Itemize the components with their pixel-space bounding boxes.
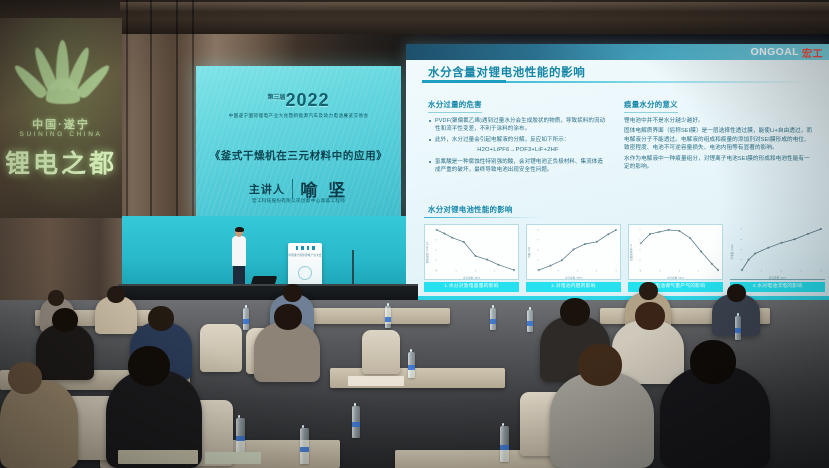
brand-name-cn: 宏工	[802, 45, 823, 60]
chart-caption: 1.水分对放电容量的影响	[424, 282, 519, 292]
chart-plot-4: 水分含量 / ppm浮电量 / mAh	[730, 224, 825, 280]
slide-title-rule	[422, 81, 812, 83]
svg-text:水分含量 / ppm: 水分含量 / ppm	[769, 276, 787, 280]
water-bottle	[735, 316, 741, 340]
right-column-heading: 痕量水分的意义	[624, 99, 678, 113]
audience-head	[274, 304, 302, 330]
svg-text:放电容量 / mAh·g-1: 放电容量 / mAh·g-1	[425, 241, 429, 264]
document-sheet	[348, 376, 404, 386]
audience-head	[727, 284, 746, 302]
water-bottle	[490, 308, 496, 330]
speaker-row: 主讲人 喻 坚	[196, 176, 401, 201]
audience-person	[0, 380, 78, 468]
event-year: 第三届2022	[196, 90, 401, 111]
audience-head	[635, 302, 665, 330]
svg-text:浮电量 / mAh: 浮电量 / mAh	[730, 244, 734, 260]
audience-head	[690, 340, 736, 384]
paragraph: 固体电解质界面（俗称SEI膜）是一层选择性透过膜，能使Li+自由透过，而电解液分…	[624, 127, 814, 152]
slide-section2-title: 水分对锂电池性能的影响	[428, 204, 513, 215]
chart-card: 水分含量 / ppm内阻 / mΩ 2.对电池内阻的影响	[526, 224, 621, 302]
chart-svg: 水分含量 / ppm容量保持率 / %	[629, 225, 722, 280]
chart-strip: 水分含量 / ppm放电容量 / mAh·g-1 1.水分对放电容量的影响 水分…	[424, 224, 816, 302]
audience-head	[639, 282, 658, 300]
audience-floor	[0, 300, 829, 468]
desk	[300, 308, 450, 324]
speaker-torso	[232, 236, 246, 266]
audience-head	[560, 298, 590, 326]
chart-caption: 2.对电池内阻的影响	[526, 282, 621, 292]
speaker-affiliation: 宏工科技股份有限公司创新中心高级工程师	[196, 198, 401, 204]
document-sheet	[118, 450, 198, 464]
svg-text:水分含量 / ppm: 水分含量 / ppm	[667, 275, 684, 279]
audience-head	[52, 308, 78, 332]
chart-card: 水分含量 / ppm放电容量 / mAh·g-1 1.水分对放电容量的影响	[424, 224, 519, 302]
audience-person	[254, 322, 320, 382]
event-subtitle: 中国遂宁国际锂电产业大会暨新能源汽车及动力电池展览交易会	[196, 113, 401, 119]
podium-text: 中国遂宁国际锂电产业大会	[288, 253, 322, 257]
slide-title: 水分含量对锂电池性能的影响	[428, 64, 585, 80]
venue-logo-panel: 中国·遂宁 SUINING CHINA 锂电之都	[0, 18, 122, 218]
circle-emblem-icon	[298, 266, 312, 280]
water-bottle	[243, 308, 249, 330]
audience-head	[148, 306, 174, 331]
audience-head	[48, 290, 64, 306]
left-column-heading: 水分过量的危害	[428, 99, 482, 113]
slide-right-column: 痕量水分的意义 锂电池中并不是水分越少越好。 固体电解质界面（俗称SEI膜）是一…	[624, 94, 814, 173]
speaker-label: 主讲人	[249, 181, 285, 197]
speaker-name: 喻 坚	[300, 176, 348, 201]
audience-head	[578, 344, 622, 386]
title-projection-screen: 第三届2022 中国遂宁国际锂电产业大会暨新能源汽车及动力电池展览交易会 《釜式…	[196, 66, 401, 216]
water-bottle	[527, 310, 533, 332]
svg-text:水分含量 / ppm: 水分含量 / ppm	[565, 275, 582, 279]
slide-section2-rule	[424, 217, 544, 218]
bullet-item: 氢氟酸是一种腐蚀性特别强的酸，会对锂电池正负极材料、集流体造成严重的破坏，最终导…	[428, 158, 608, 174]
venue-name-en: SUINING CHINA	[0, 131, 122, 138]
chart-svg: 水分含量 / ppm内阻 / mΩ	[527, 225, 620, 280]
svg-text:内阻 / mΩ: 内阻 / mΩ	[527, 247, 531, 258]
svg-text:水分含量 / ppm: 水分含量 / ppm	[463, 275, 480, 279]
audience-person	[36, 324, 94, 380]
paragraph: 锂电池中并不是水分越少越好。	[624, 117, 814, 125]
lotus-logo-icon	[16, 40, 108, 112]
ceiling-light-strip	[120, 2, 829, 11]
ongoal-logo: ONGOAL 宏工	[751, 44, 823, 60]
water-bottle	[385, 306, 391, 328]
main-projection-screen: ONGOAL 宏工 水分含量对锂电池性能的影响 水分过量的危害 PVDF(聚偏氟…	[406, 44, 829, 310]
audience-head	[283, 284, 302, 302]
document-sheet	[205, 452, 261, 464]
chemical-equation: H2O+LiPF6→POF3+LiF+2HF	[428, 146, 608, 155]
chart-svg: 水分含量 / ppm放电容量 / mAh·g-1	[425, 225, 518, 280]
chair	[362, 330, 400, 374]
paragraph: 水作为电解液中一种痕量组分，对锂离子电池SEI膜的形成和电池性能有一定的影响。	[624, 155, 814, 172]
water-bottle	[500, 426, 509, 462]
bullet-item: PVDF(聚偏氟乙烯)遇到过量水分会生成胶状的物质，导致浆料的流动性和流平性变差…	[428, 117, 608, 133]
chart-svg: 水分含量 / ppm浮电量 / mAh	[730, 224, 825, 280]
podium-emblem-dots	[292, 246, 318, 250]
chair	[200, 324, 242, 372]
speaker-hair	[235, 227, 244, 232]
water-bottle	[300, 428, 309, 464]
venue-slogan: 锂电之都	[0, 144, 122, 180]
water-bottle	[236, 418, 245, 452]
svg-text:容量保持率 / %: 容量保持率 / %	[629, 243, 633, 261]
water-bottle	[352, 406, 360, 438]
audience-head	[8, 362, 42, 394]
slide-left-column: 水分过量的危害 PVDF(聚偏氟乙烯)遇到过量水分会生成胶状的物质，导致浆料的流…	[428, 94, 608, 177]
conference-photo: 中国·遂宁 SUINING CHINA 锂电之都 第三届2022 中国遂宁国际锂…	[0, 0, 829, 468]
event-year-value: 2022	[285, 90, 329, 110]
water-bottle	[408, 352, 415, 378]
chart-plot-2: 水分含量 / ppm内阻 / mΩ	[526, 224, 621, 280]
venue-name-cn: 中国·遂宁	[0, 116, 122, 132]
talk-title: 《釜式干燥机在三元材料中的应用》	[196, 148, 401, 163]
divider	[292, 179, 294, 199]
chart-plot-3: 水分含量 / ppm容量保持率 / %	[628, 224, 723, 280]
brand-name-en: ONGOAL	[751, 46, 799, 58]
chart-plot-1: 水分含量 / ppm放电容量 / mAh·g-1	[424, 224, 519, 280]
bullet-item: 此外，水分过量会引起电解液的分解，反应如下所示：	[428, 136, 608, 144]
audience-person	[550, 372, 654, 468]
event-year-prefix: 第三届	[267, 95, 285, 101]
audience-head	[107, 286, 125, 303]
audience-head	[128, 346, 170, 386]
